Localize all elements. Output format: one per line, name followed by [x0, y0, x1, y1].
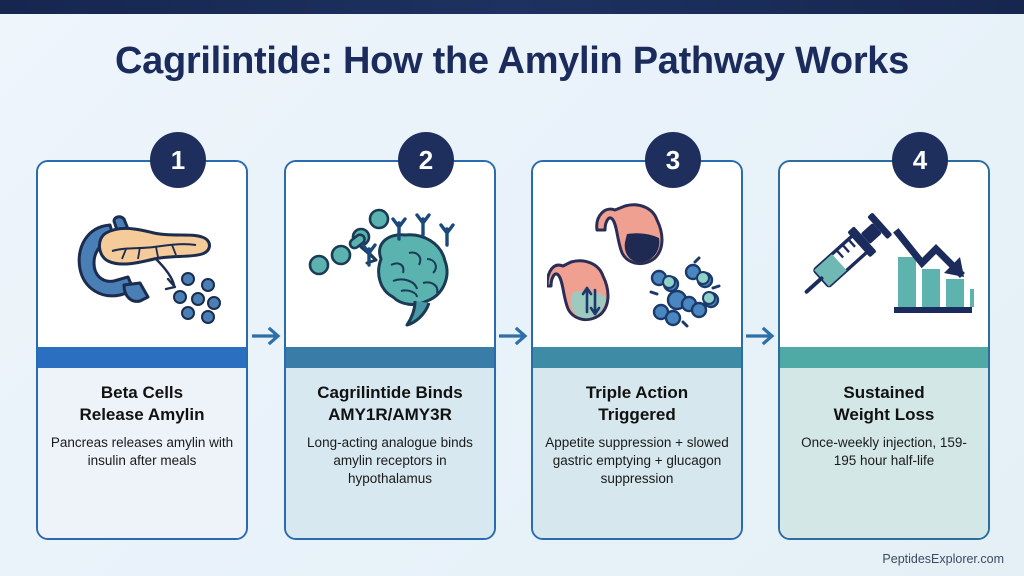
step-2-divider — [286, 347, 494, 368]
step-2-body: Cagrilintide Binds AMY1R/AMY3R Long-acti… — [286, 368, 494, 538]
step-badge-1: 1 — [150, 132, 206, 188]
arrow-step-1-to-2 — [252, 325, 286, 347]
step-3-title: Triple Action Triggered — [543, 382, 731, 426]
step-card-3[interactable]: Triple Action Triggered Appetite suppres… — [531, 160, 743, 540]
step-3-title-line2: Triggered — [598, 405, 675, 424]
step-1-title-line2: Release Amylin — [79, 405, 204, 424]
step-4-body: Sustained Weight Loss Once-weekly inject… — [780, 368, 988, 538]
step-1-title-line1: Beta Cells — [101, 383, 183, 402]
step-1-description: Pancreas releases amylin with insulin af… — [48, 434, 236, 470]
arrow-step-2-to-3 — [499, 325, 533, 347]
step-3-body: Triple Action Triggered Appetite suppres… — [533, 368, 741, 538]
step-4-description: Once-weekly injection, 159-195 hour half… — [790, 434, 978, 470]
step-1-title: Beta Cells Release Amylin — [48, 382, 236, 426]
step-4-title-line2: Weight Loss — [834, 405, 935, 424]
step-1-body: Beta Cells Release Amylin Pancreas relea… — [38, 368, 246, 538]
brain-receptor-icon — [305, 203, 475, 328]
step-2-icon-area — [286, 162, 494, 347]
top-accent-bar — [0, 0, 1024, 14]
arrow-step-3-to-4 — [746, 325, 780, 347]
step-1-icon-area — [38, 162, 246, 347]
step-3-divider — [533, 347, 741, 368]
step-4-title: Sustained Weight Loss — [790, 382, 978, 426]
step-card-1[interactable]: Beta Cells Release Amylin Pancreas relea… — [36, 160, 248, 540]
step-card-2[interactable]: Cagrilintide Binds AMY1R/AMY3R Long-acti… — [284, 160, 496, 540]
step-3-icon-area — [533, 162, 741, 347]
step-2-description: Long-acting analogue binds amylin recept… — [296, 434, 484, 489]
step-badge-4: 4 — [892, 132, 948, 188]
step-3-description: Appetite suppression + slowed gastric em… — [543, 434, 731, 489]
step-4-icon-area — [780, 162, 988, 347]
page-title: Cagrilintide: How the Amylin Pathway Wor… — [0, 40, 1024, 83]
footer-attribution: PeptidesExplorer.com — [882, 552, 1004, 566]
stomach-molecules-icon — [547, 200, 727, 332]
step-badge-3: 3 — [645, 132, 701, 188]
step-4-divider — [780, 347, 988, 368]
step-2-title-line1: Cagrilintide Binds — [317, 383, 462, 402]
step-2-title: Cagrilintide Binds AMY1R/AMY3R — [296, 382, 484, 426]
step-2-title-line2: AMY1R/AMY3R — [328, 405, 452, 424]
step-badge-2: 2 — [398, 132, 454, 188]
step-1-divider — [38, 347, 246, 368]
pancreas-icon — [62, 207, 222, 325]
steps-container: Beta Cells Release Amylin Pancreas relea… — [36, 160, 990, 540]
step-3-title-line1: Triple Action — [586, 383, 688, 402]
step-4-title-line1: Sustained — [843, 383, 924, 402]
syringe-chart-icon — [794, 207, 974, 325]
step-card-4[interactable]: Sustained Weight Loss Once-weekly inject… — [778, 160, 990, 540]
